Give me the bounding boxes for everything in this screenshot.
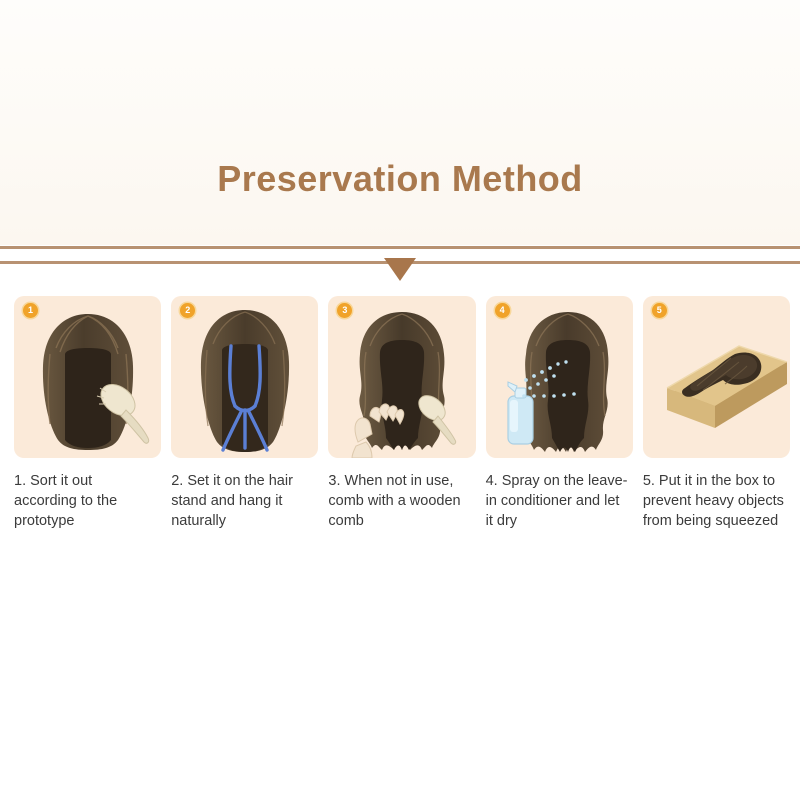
cardboard-box-shape <box>667 346 787 428</box>
spray-bottle-on-hair-illustration <box>486 296 633 458</box>
step-item: 4 <box>486 296 633 531</box>
step-card-3: 3 <box>328 296 475 458</box>
step-number-badge-1: 1 <box>23 303 38 318</box>
header-background-wash <box>0 0 800 245</box>
step-card-2: 2 <box>171 296 318 458</box>
steps-strip: 1 <box>14 296 790 531</box>
page-title-row: Preservation Method <box>0 158 800 200</box>
triangle-down-icon <box>384 258 416 281</box>
step-caption-4: 4. Spray on the leave-in conditioner and… <box>486 471 633 531</box>
step-number-badge-4: 4 <box>495 303 510 318</box>
wig-with-brush-illustration <box>14 296 161 458</box>
step-item: 2 <box>171 296 318 531</box>
step-item: 1 <box>14 296 161 531</box>
step-item: 5 <box>643 296 790 531</box>
step-item: 3 <box>328 296 475 531</box>
divider-line-top <box>0 246 800 249</box>
step-card-1: 1 <box>14 296 161 458</box>
combing-wavy-hair-illustration <box>328 296 475 458</box>
step-number-badge-5: 5 <box>652 303 667 318</box>
step-card-5: 5 <box>643 296 790 458</box>
step-caption-1: 1. Sort it out according to the prototyp… <box>14 471 161 531</box>
step-caption-2: 2. Set it on the hair stand and hang it … <box>171 471 318 531</box>
wig-on-hair-stand-illustration <box>171 296 318 458</box>
title-divider <box>0 244 800 290</box>
wig-in-cardboard-box-illustration <box>643 296 790 458</box>
step-caption-5: 5. Put it in the box to prevent heavy ob… <box>643 471 790 531</box>
step-caption-3: 3. When not in use, comb with a wooden c… <box>328 471 475 531</box>
step-card-4: 4 <box>486 296 633 458</box>
page-title: Preservation Method <box>217 158 583 200</box>
